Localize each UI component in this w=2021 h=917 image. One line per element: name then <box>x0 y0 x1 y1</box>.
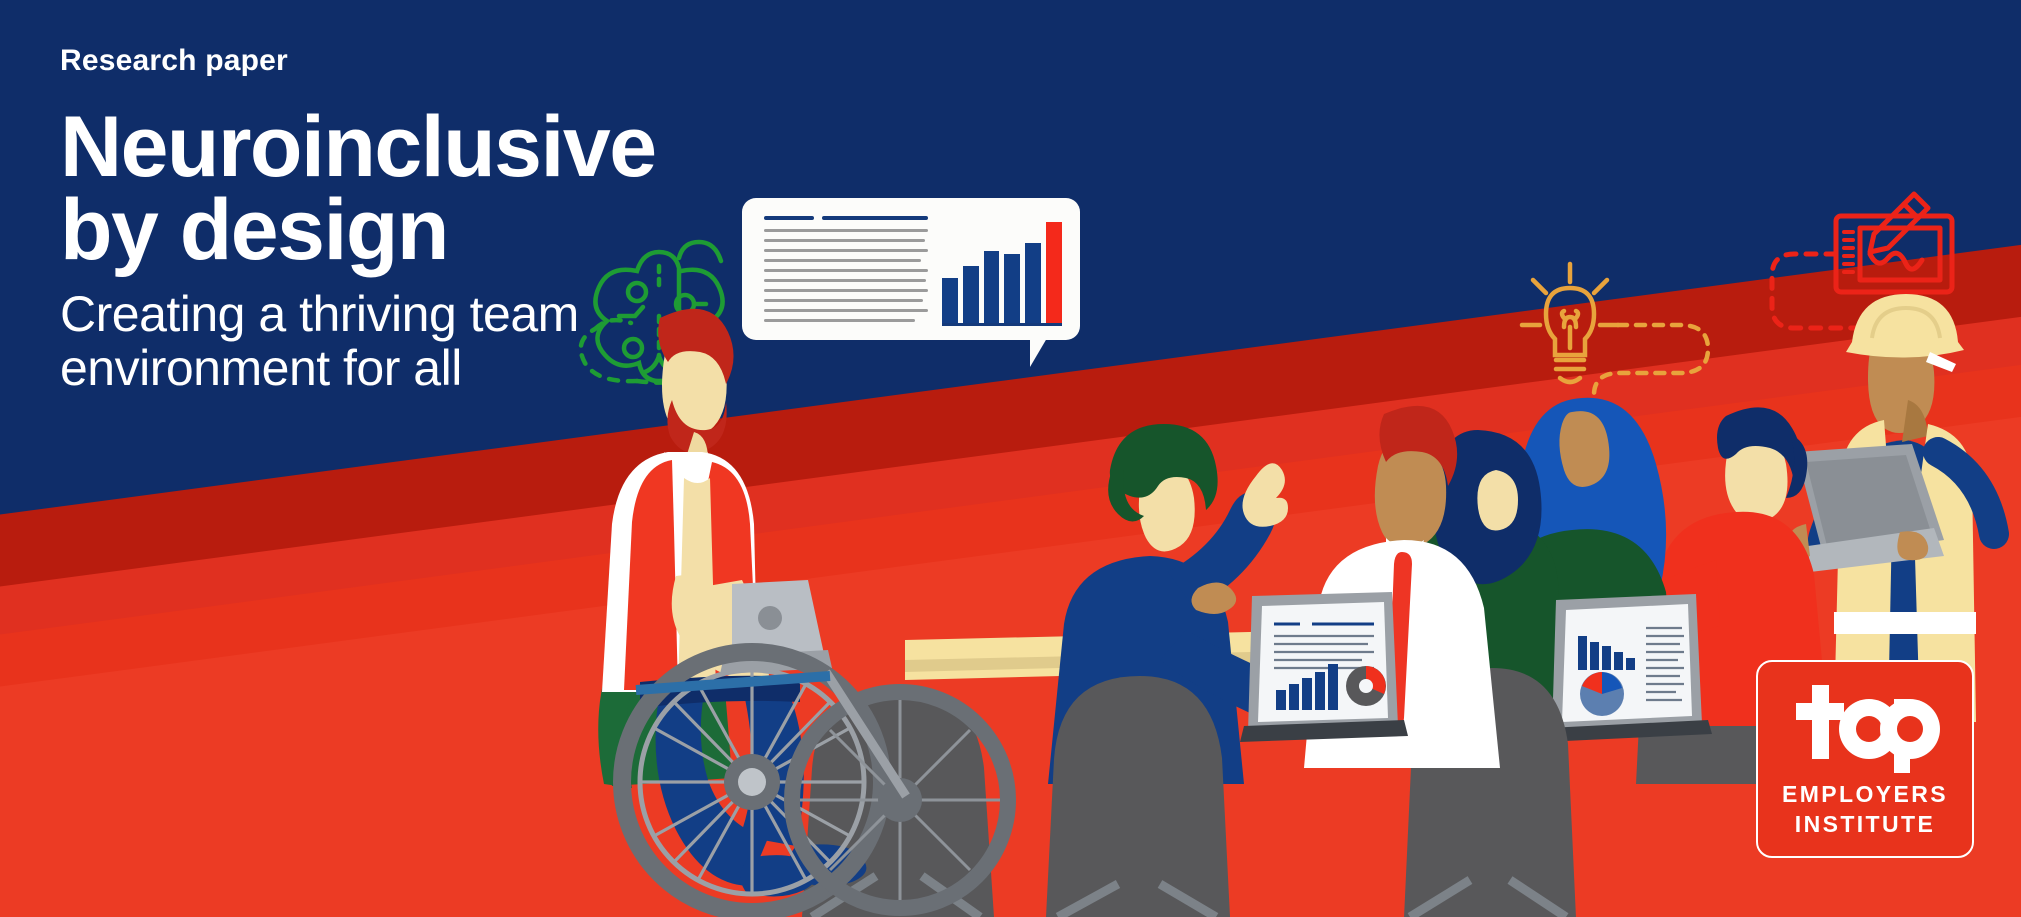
kicker-label: Research paper <box>60 44 656 78</box>
subtitle-line-1: Creating a thriving team <box>60 287 656 341</box>
top-wordmark-icon <box>1790 681 1940 777</box>
page-title: Neuroinclusive by design <box>60 106 656 271</box>
subtitle-line-2: environment for all <box>60 341 656 395</box>
wheelchair-front-wheel <box>792 692 1008 908</box>
logo-line-2: INSTITUTE <box>1795 811 1935 838</box>
office-chair-center <box>1046 676 1230 917</box>
laptop-center-pie-chart <box>1346 666 1386 706</box>
title-line-1: Neuroinclusive <box>60 106 656 189</box>
logo-line-1: EMPLOYERS <box>1782 781 1948 808</box>
page-subtitle: Creating a thriving team environment for… <box>60 287 656 395</box>
title-line-2: by design <box>60 189 656 272</box>
banner-text-block: Research paper Neuroinclusive by design … <box>60 44 656 395</box>
top-employers-institute-logo[interactable]: EMPLOYERS INSTITUTE <box>1756 660 1974 858</box>
laptop-right-pie-chart <box>1580 672 1624 716</box>
laptop-right <box>1544 594 1712 742</box>
laptop-center <box>1240 592 1408 742</box>
research-paper-banner: Research paper Neuroinclusive by design … <box>0 0 2021 917</box>
